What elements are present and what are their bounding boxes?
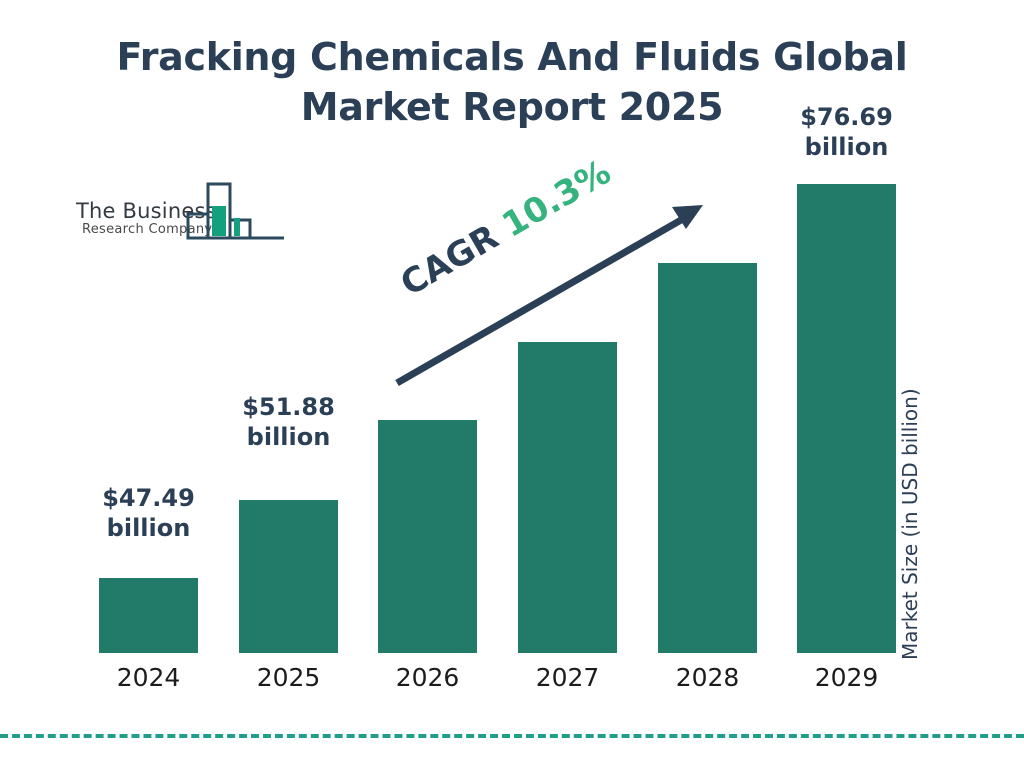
bar-2028 <box>658 263 757 653</box>
bar-2025 <box>239 500 338 653</box>
bar-2029 <box>797 184 896 653</box>
chart-canvas: Fracking Chemicals And Fluids Global Mar… <box>0 0 1024 768</box>
bar-value-2024: $47.49 <box>99 483 198 513</box>
bar-2024 <box>99 578 198 653</box>
bar-value-label-2025: $51.88 billion <box>229 392 348 452</box>
y-axis-title: Market Size (in USD billion) <box>898 0 922 330</box>
x-tick-2028: 2028 <box>658 662 757 694</box>
bar-2026 <box>378 420 477 653</box>
bar-unit-2025: billion <box>229 422 348 452</box>
x-tick-2026: 2026 <box>378 662 477 694</box>
bar-value-label-2029: $76.69 billion <box>790 102 903 162</box>
bar-unit-2029: billion <box>790 132 903 162</box>
footer-divider <box>0 734 1024 738</box>
x-tick-2029: 2029 <box>797 662 896 694</box>
bar-unit-2024: billion <box>99 513 198 543</box>
bar-value-2025: $51.88 <box>229 392 348 422</box>
x-tick-2025: 2025 <box>239 662 338 694</box>
x-tick-2024: 2024 <box>99 662 198 694</box>
y-axis-title-text: Market Size (in USD billion) <box>898 388 922 660</box>
x-tick-2027: 2027 <box>518 662 617 694</box>
bars-layer: $47.49 billion $51.88 billion $76.69 bil… <box>0 0 1024 768</box>
bar-value-label-2024: $47.49 billion <box>99 483 198 543</box>
bar-value-2029: $76.69 <box>790 102 903 132</box>
bar-2027 <box>518 342 617 653</box>
